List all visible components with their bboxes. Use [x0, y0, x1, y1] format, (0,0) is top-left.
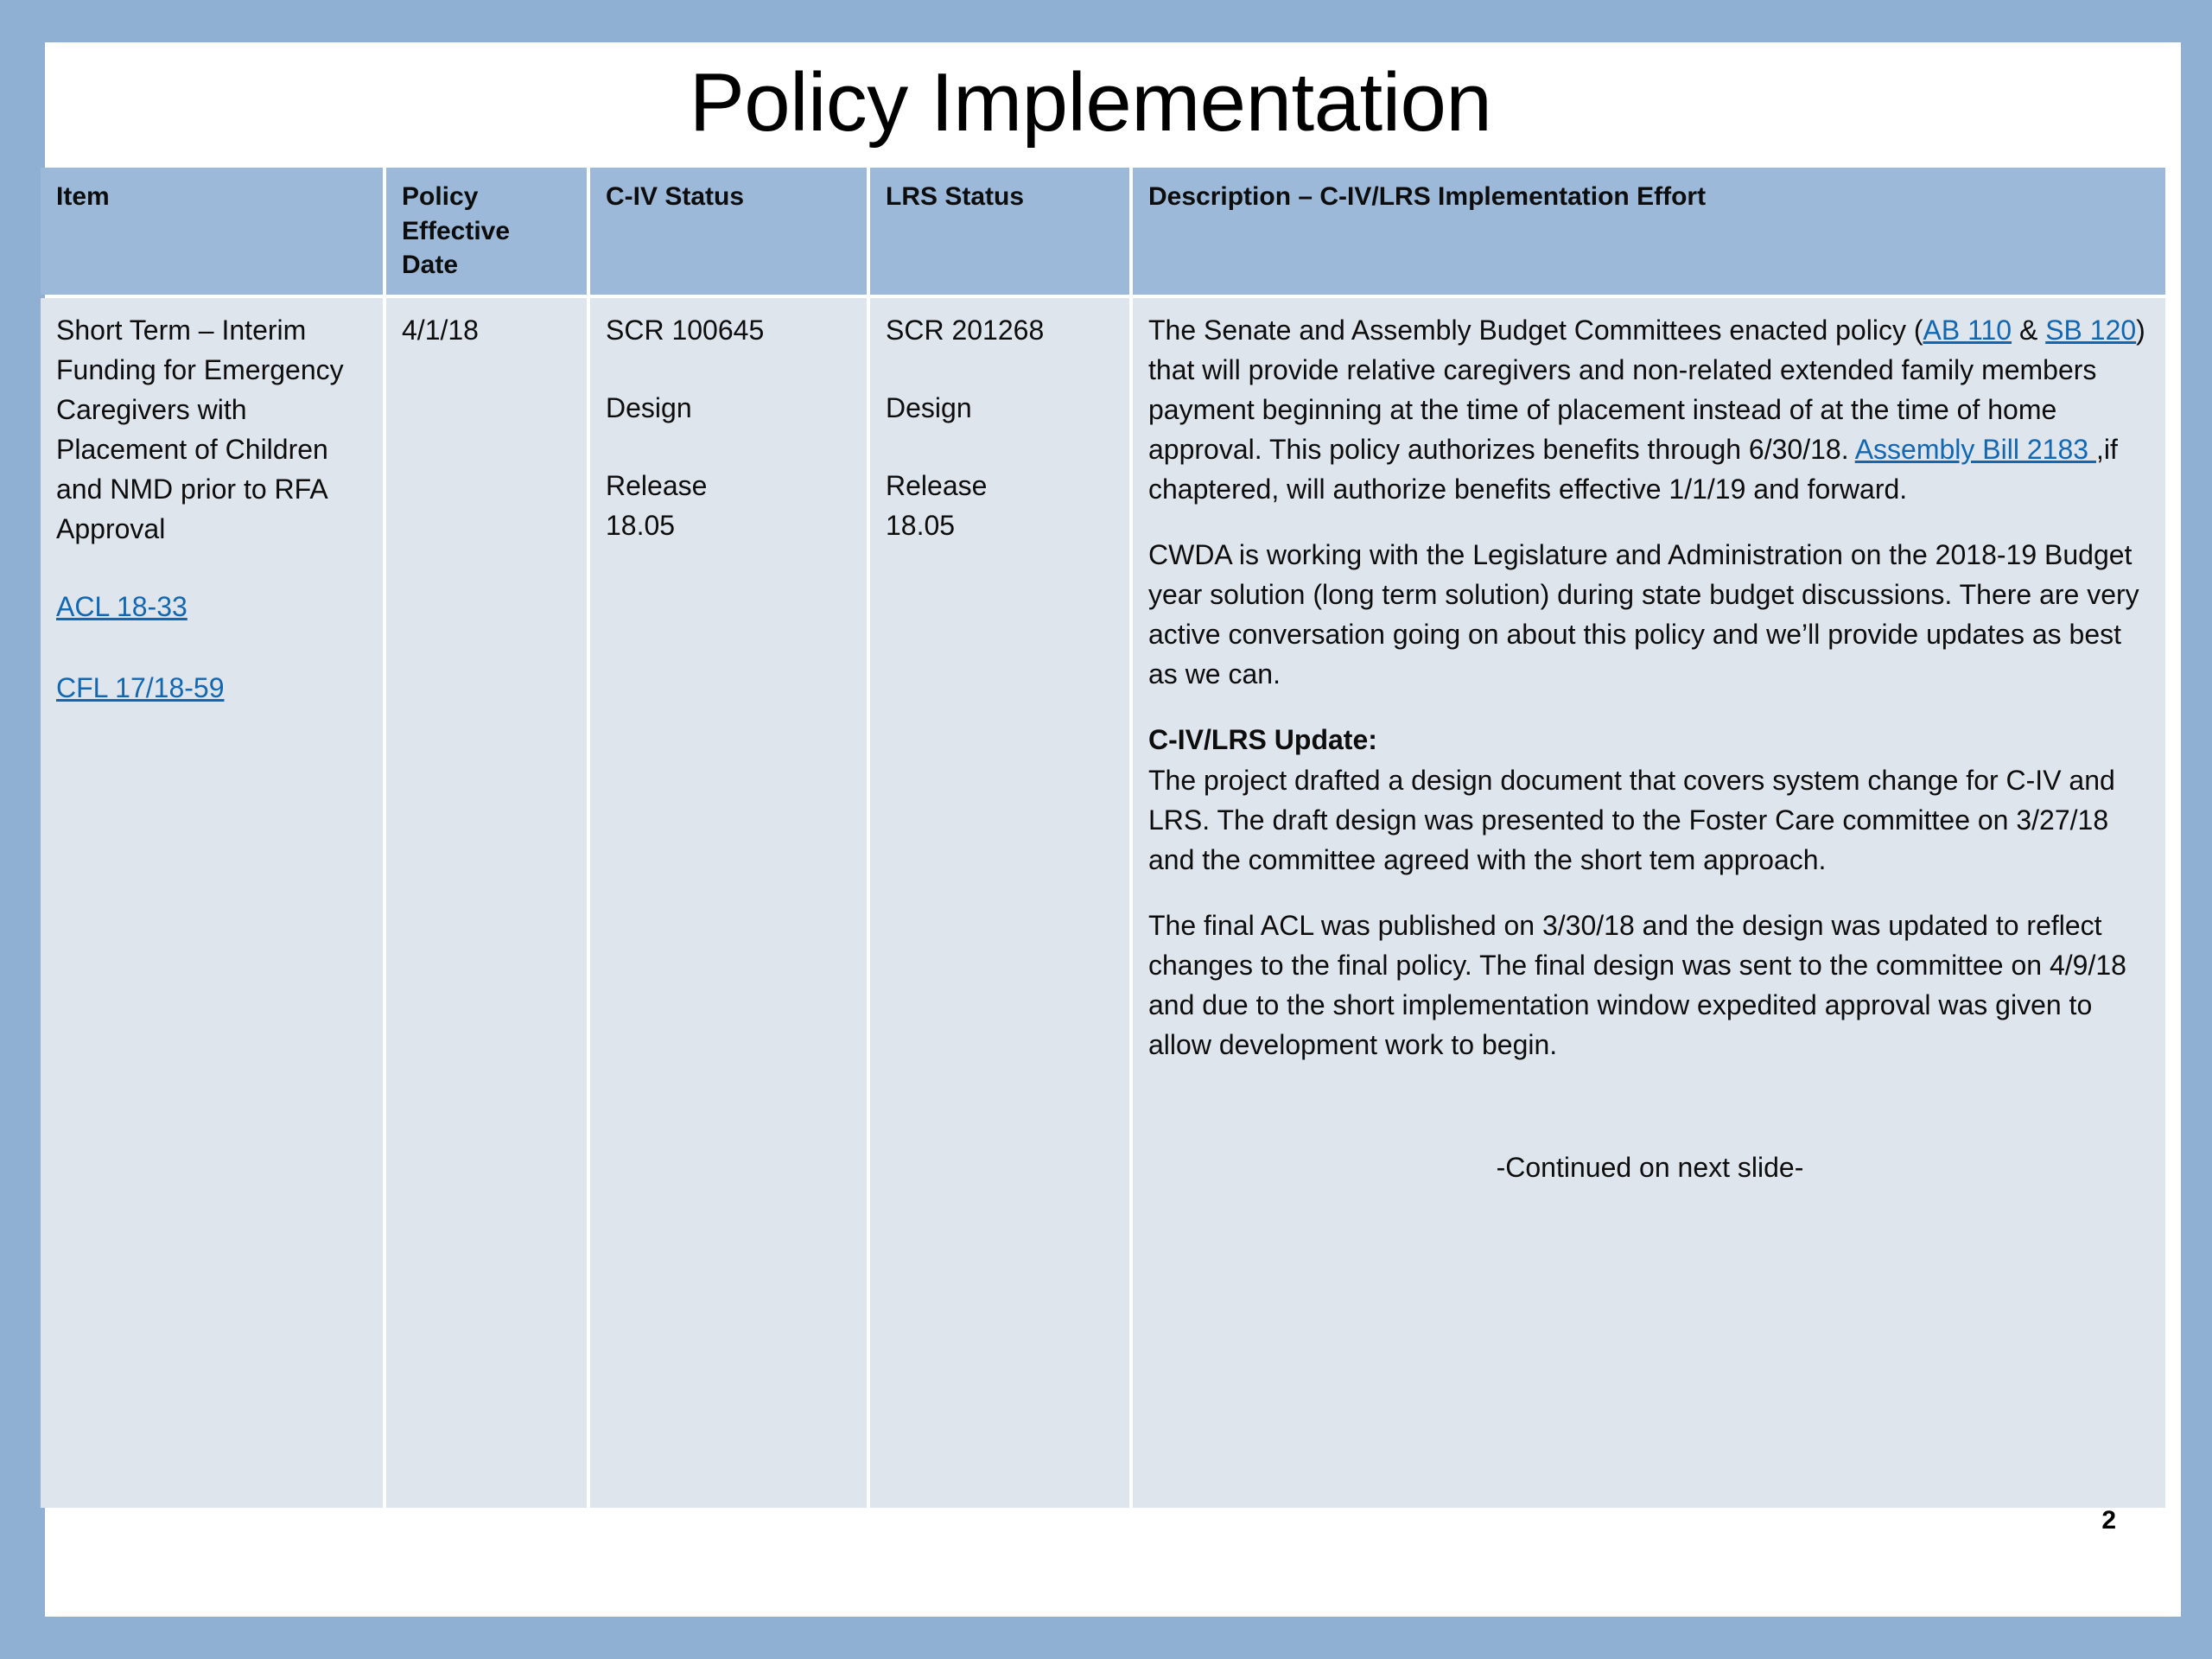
page-title: Policy Implementation [97, 60, 2084, 147]
item-title: Short Term – Interim Funding for Emergen… [56, 310, 369, 549]
policy-effective-date-value: 4/1/18 [402, 310, 573, 350]
lrs-release-label: Release [886, 466, 1116, 505]
link-ab-110[interactable]: AB 110 [1923, 315, 2012, 346]
civ-release-label: Release [606, 466, 853, 505]
link-cfl-17-18-59[interactable]: CFL 17/18-59 [56, 668, 369, 708]
continued-note: -Continued on next slide- [1148, 1147, 2152, 1187]
column-header-description: Description – C-IV/LRS Implementation Ef… [1133, 168, 2165, 295]
column-header-civ-status: C-IV Status [590, 168, 867, 295]
description-paragraph-final-acl: The final ACL was published on 3/30/18 a… [1148, 906, 2152, 1065]
policy-implementation-table: Item Policy Effective Date C-IV Status L… [37, 164, 2169, 1511]
link-assembly-bill-2183[interactable]: Assembly Bill 2183 [1855, 434, 2096, 465]
item-reference-links: ACL 18-33 CFL 17/18-59 [56, 587, 369, 708]
description-update-heading: C-IV/LRS Update: [1148, 720, 2152, 760]
lrs-release-value: 18.05 [886, 505, 1116, 545]
civ-phase: Design [606, 388, 853, 428]
link-acl-18-33[interactable]: ACL 18-33 [56, 587, 369, 626]
page-number: 2 [2101, 1506, 2116, 1535]
column-header-policy-effective-date: Policy Effective Date [386, 168, 587, 295]
column-header-lrs-status: LRS Status [870, 168, 1129, 295]
civ-scr-number: SCR 100645 [606, 310, 853, 350]
cell-policy-effective-date: 4/1/18 [386, 298, 587, 1508]
lrs-phase: Design [886, 388, 1116, 428]
desc-p1-text-b: & [2012, 315, 2045, 346]
table-row: Short Term – Interim Funding for Emergen… [41, 298, 2165, 1508]
column-header-item: Item [41, 168, 383, 295]
lrs-scr-number: SCR 201268 [886, 310, 1116, 350]
link-sb-120[interactable]: SB 120 [2045, 315, 2136, 346]
desc-p1-text-a: The Senate and Assembly Budget Committee… [1148, 315, 1923, 346]
description-paragraph-cwda: CWDA is working with the Legislature and… [1148, 535, 2152, 694]
table-header-row: Item Policy Effective Date C-IV Status L… [41, 168, 2165, 295]
description-paragraph-design: The project drafted a design document th… [1148, 760, 2152, 880]
cell-item: Short Term – Interim Funding for Emergen… [41, 298, 383, 1508]
civ-release-value: 18.05 [606, 505, 853, 545]
slide-surface: Policy Implementation Item Policy Effect… [45, 42, 2181, 1617]
cell-civ-status: SCR 100645 Design Release 18.05 [590, 298, 867, 1508]
presentation-background: Policy Implementation Item Policy Effect… [0, 0, 2212, 1659]
description-paragraph-policy: The Senate and Assembly Budget Committee… [1148, 310, 2152, 509]
cell-description: The Senate and Assembly Budget Committee… [1133, 298, 2165, 1508]
cell-lrs-status: SCR 201268 Design Release 18.05 [870, 298, 1129, 1508]
